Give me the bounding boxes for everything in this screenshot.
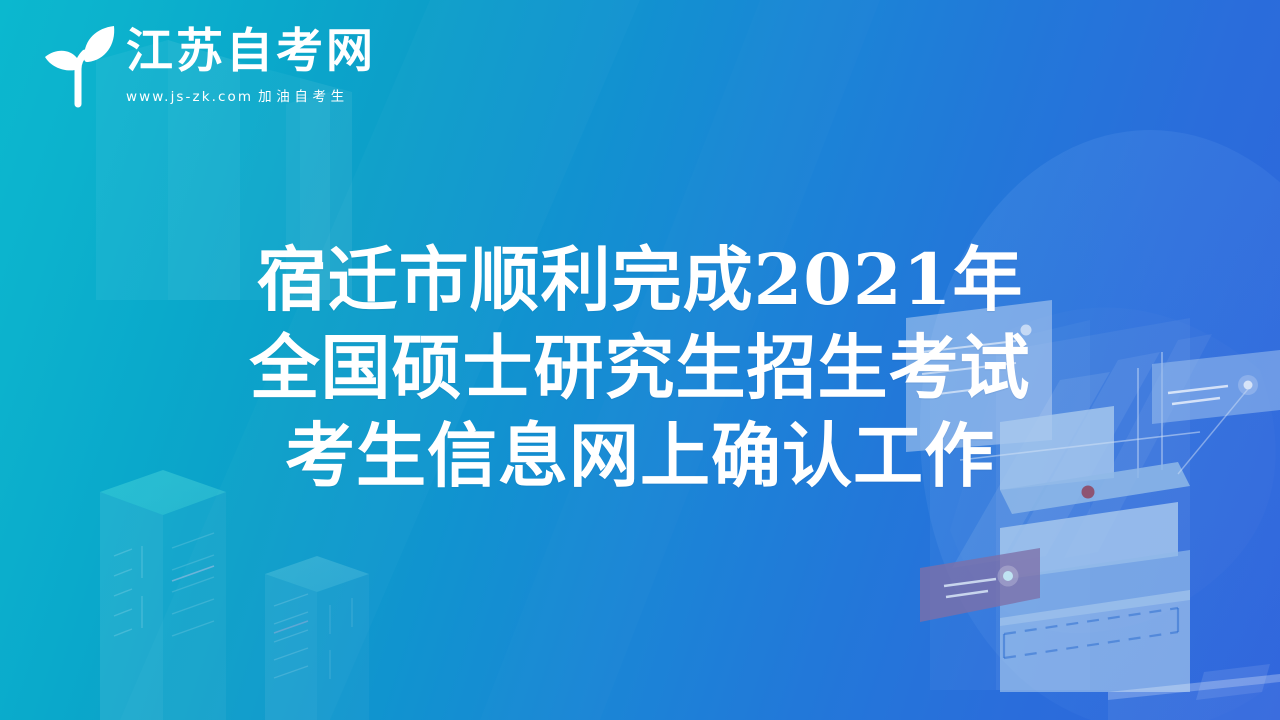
purple-id-card bbox=[920, 548, 1040, 622]
sprout-leaf-icon bbox=[34, 22, 118, 108]
site-name: 江苏自考网 bbox=[126, 28, 376, 76]
site-tagline: www.js-zk.com加油自考生 bbox=[126, 85, 376, 105]
site-logo[interactable]: 江苏自考网 www.js-zk.com加油自考生 bbox=[34, 22, 376, 108]
isometric-building-large bbox=[100, 470, 226, 720]
accent-dot-2 bbox=[1003, 571, 1013, 581]
promo-banner: 江苏自考网 www.js-zk.com加油自考生 宿迁市顺利完成2021年 全国… bbox=[0, 0, 1280, 720]
isometric-building-small bbox=[265, 556, 369, 720]
title-line-3: 考生信息网上确认工作 bbox=[90, 412, 1190, 500]
dashed-input-field bbox=[1004, 608, 1178, 658]
page-title: 宿迁市顺利完成2021年 全国硕士研究生招生考试 考生信息网上确认工作 bbox=[0, 236, 1280, 500]
tagline-slogan: 加油自考生 bbox=[258, 89, 349, 105]
title-line-1: 宿迁市顺利完成2021年 bbox=[90, 236, 1190, 324]
title-line-2: 全国硕士研究生招生考试 bbox=[90, 324, 1190, 412]
tagline-url: www.js-zk.com bbox=[126, 89, 253, 105]
